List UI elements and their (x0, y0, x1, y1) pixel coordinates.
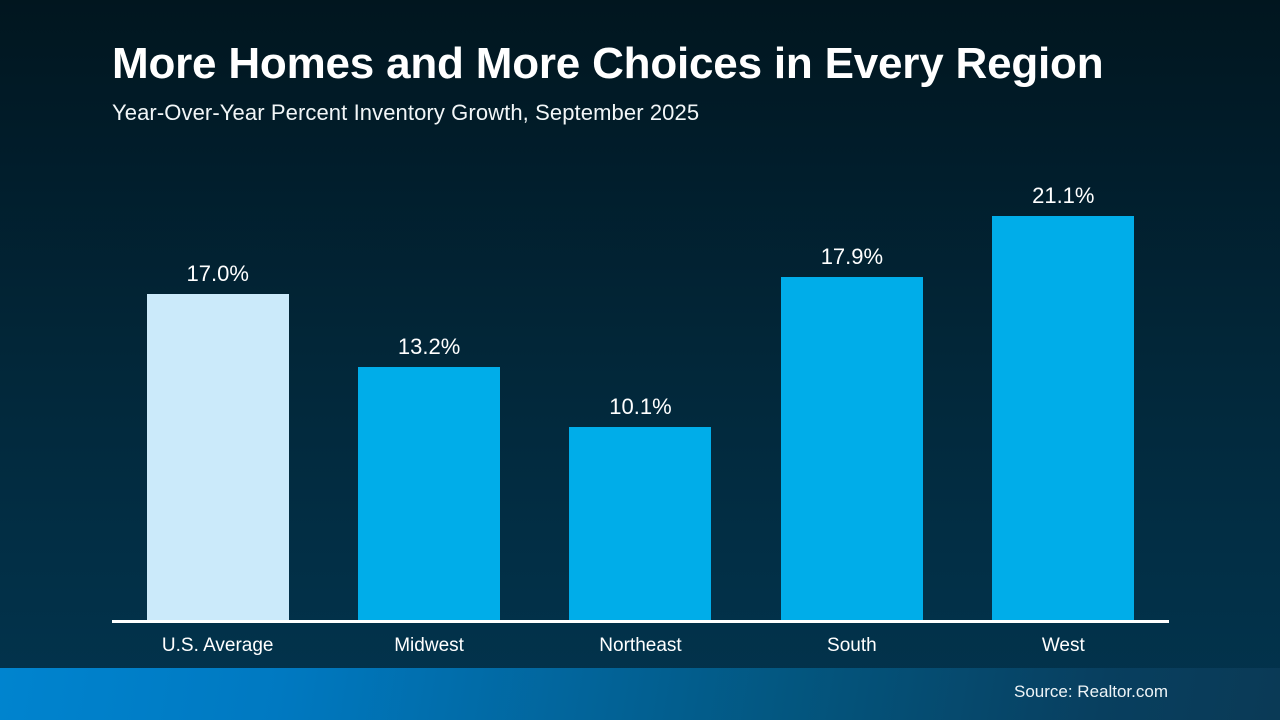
bar-column: 13.2% (323, 160, 534, 621)
bar-column: 17.9% (746, 160, 957, 621)
page-title: More Homes and More Choices in Every Reg… (112, 40, 1172, 88)
bar-column: 17.0% (112, 160, 323, 621)
category-label-northeast: Northeast (535, 633, 746, 659)
x-axis-line (112, 620, 1169, 623)
bar-value-label: 13.2% (398, 336, 460, 358)
bar-column: 10.1% (535, 160, 746, 621)
bar-value-label: 10.1% (609, 396, 671, 418)
x-axis-category-labels: U.S. AverageMidwestNortheastSouthWest (112, 633, 1169, 663)
bar-value-label: 17.9% (821, 246, 883, 268)
bar-value-label: 17.0% (187, 263, 249, 285)
bar-group: 13.2% (323, 160, 534, 621)
category-label-west: West (958, 633, 1169, 659)
bar-midwest[interactable] (358, 367, 500, 621)
bar-group: 10.1% (535, 160, 746, 621)
bar-group: 17.9% (746, 160, 957, 621)
bar-group: 17.0% (112, 160, 323, 621)
header: More Homes and More Choices in Every Reg… (112, 40, 1172, 126)
category-label-midwest: Midwest (323, 633, 534, 659)
bar-west[interactable] (992, 216, 1134, 621)
chart-plot-area: 17.0%13.2%10.1%17.9%21.1% (112, 160, 1169, 621)
footer-band: Source: Realtor.com (0, 668, 1280, 720)
category-label-u-s-average: U.S. Average (112, 633, 323, 659)
bar-south[interactable] (781, 277, 923, 621)
page-subtitle: Year-Over-Year Percent Inventory Growth,… (112, 100, 1172, 126)
slide-canvas: More Homes and More Choices in Every Reg… (0, 0, 1280, 720)
bar-value-label: 21.1% (1032, 185, 1094, 207)
source-attribution: Source: Realtor.com (1014, 682, 1168, 702)
bar-group: 21.1% (958, 160, 1169, 621)
bar-u-s-average[interactable] (147, 294, 289, 621)
bar-column: 21.1% (958, 160, 1169, 621)
bar-northeast[interactable] (569, 427, 711, 621)
category-label-south: South (746, 633, 957, 659)
